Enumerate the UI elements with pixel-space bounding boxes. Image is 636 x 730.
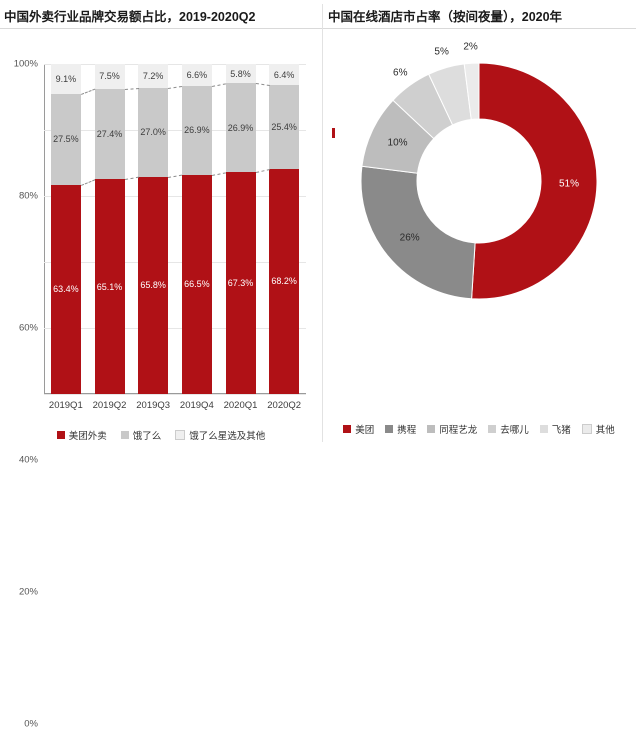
legend-item[interactable]: 饿了么 (121, 428, 162, 442)
legend-item[interactable]: 其他 (582, 422, 615, 436)
legend-item[interactable]: 饿了么星选及其他 (175, 428, 265, 442)
y-axis-tick: 40% (19, 455, 38, 466)
donut-value-label: 51% (559, 178, 579, 189)
legend-item[interactable]: 同程艺龙 (427, 422, 477, 436)
legend-item[interactable]: 飞猪 (540, 422, 571, 436)
gridline: 60% (44, 196, 306, 197)
donut-value-label: 26% (400, 233, 420, 244)
legend-label: 携程 (397, 422, 416, 436)
legend-label: 飞猪 (552, 422, 571, 436)
x-axis-tick: 2020Q2 (254, 400, 314, 411)
bar-value-label: 65.8% (138, 281, 168, 290)
legend-label: 饿了么 (133, 428, 162, 442)
bar-value-label: 7.5% (95, 72, 125, 81)
donut-value-label: 5% (434, 47, 448, 58)
accent-mark (332, 128, 335, 138)
y-axis-tick: 100% (14, 59, 38, 70)
legend-label: 饿了么星选及其他 (189, 428, 265, 442)
chart-page: 中国外卖行业品牌交易额占比，2019-2020Q2 中国在线酒店市占率（按间夜量… (0, 0, 636, 447)
stacked-bar-chart: 0%20%40%60%80%100%63.4%27.5%9.1%65.1%27.… (0, 32, 322, 447)
stack-connector-line (212, 83, 226, 88)
gridline: 100% (44, 64, 306, 65)
legend-swatch (175, 430, 185, 440)
bar-value-label: 26.9% (226, 124, 256, 133)
gridline: 80% (44, 130, 306, 131)
bar-group: 65.1%27.4%7.5% (95, 64, 125, 394)
left-legend: 美团外卖饿了么饿了么星选及其他 (0, 428, 322, 442)
legend-swatch (121, 431, 129, 439)
bar-value-label: 68.2% (269, 277, 299, 286)
legend-label: 美团 (355, 422, 374, 436)
stack-connector-line (168, 175, 182, 179)
bar-value-label: 26.9% (182, 126, 212, 135)
bar-group: 65.8%27.0%7.2% (138, 64, 168, 394)
right-chart-title: 中国在线酒店市占率（按间夜量），2020年 (328, 6, 562, 25)
legend-item[interactable]: 美团外卖 (57, 428, 107, 442)
bar-value-label: 67.3% (226, 279, 256, 288)
legend-swatch (488, 425, 496, 433)
gridline: 20% (44, 328, 306, 329)
bar-value-label: 65.1% (95, 283, 125, 292)
legend-swatch (540, 425, 548, 433)
right-legend: 美团携程同程艺龙去哪儿飞猪其他 (322, 422, 636, 436)
donut-value-label: 6% (393, 67, 407, 78)
stack-connector-line (168, 86, 182, 90)
donut-value-label: 10% (388, 137, 408, 148)
stack-connector-line (212, 172, 226, 177)
bar-group: 67.3%26.9%5.8% (226, 64, 256, 394)
bar-group: 66.5%26.9%6.6% (182, 64, 212, 394)
bar-value-label: 27.5% (51, 135, 81, 144)
donut-value-label: 2% (463, 42, 477, 53)
y-axis-tick: 60% (19, 323, 38, 334)
bar-plot-area: 0%20%40%60%80%100%63.4%27.5%9.1%65.1%27.… (44, 64, 306, 394)
legend-label: 美团外卖 (69, 428, 107, 442)
y-axis-tick: 20% (19, 587, 38, 598)
gridline: 40% (44, 262, 306, 263)
bar-value-label: 6.6% (182, 71, 212, 80)
stack-connector-line (125, 177, 139, 181)
donut-chart: 51%26%10%6%5%2% 美团携程同程艺龙去哪儿飞猪其他 (322, 32, 636, 447)
legend-label: 去哪儿 (500, 422, 529, 436)
legend-swatch (582, 424, 592, 434)
bar-value-label: 66.5% (182, 280, 212, 289)
stack-connector-line (81, 89, 95, 96)
y-axis-line (44, 64, 45, 394)
bar-value-label: 5.8% (226, 70, 256, 79)
legend-label: 其他 (596, 422, 615, 436)
left-chart-title: 中国外卖行业品牌交易额占比，2019-2020Q2 (4, 6, 255, 25)
bar-value-label: 25.4% (269, 123, 299, 132)
bar-value-label: 7.2% (138, 72, 168, 81)
legend-swatch (343, 425, 351, 433)
stack-connector-line (125, 88, 139, 91)
stack-connector-line (255, 83, 269, 87)
donut-plot-area: 51%26%10%6%5%2% (354, 56, 604, 306)
y-axis-tick: 80% (19, 191, 38, 202)
bar-value-label: 27.0% (138, 128, 168, 137)
legend-item[interactable]: 美团 (343, 422, 374, 436)
legend-swatch (385, 425, 393, 433)
gridline: 0% (44, 394, 306, 395)
legend-swatch (57, 431, 65, 439)
y-axis-tick: 0% (24, 719, 38, 730)
legend-label: 同程艺龙 (439, 422, 477, 436)
legend-swatch (427, 425, 435, 433)
title-divider (0, 28, 636, 29)
stack-connector-line (81, 179, 95, 186)
bar-value-label: 63.4% (51, 285, 81, 294)
bar-group: 63.4%27.5%9.1% (51, 64, 81, 394)
bar-value-label: 6.4% (269, 71, 299, 80)
legend-item[interactable]: 去哪儿 (488, 422, 529, 436)
stack-connector-line (256, 169, 270, 174)
bar-group: 68.2%25.4%6.4% (269, 64, 299, 394)
bar-value-label: 9.1% (51, 75, 81, 84)
legend-item[interactable]: 携程 (385, 422, 416, 436)
bar-value-label: 27.4% (95, 130, 125, 139)
